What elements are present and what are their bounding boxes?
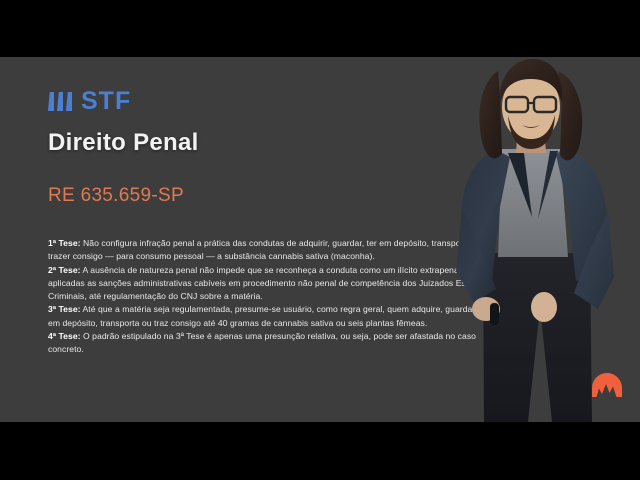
thesis-text-4: O padrão estipulado na 3ª Tese é apenas … [48,331,476,354]
thesis-label-4: 4ª Tese: [48,331,81,341]
thesis-label-2: 2ª Tese: [48,265,81,275]
thesis-item-3: 3ª Tese: Até que a matéria seja regulame… [48,303,494,330]
thesis-item-4: 4ª Tese: O padrão estipulado na 3ª Tese … [48,330,494,357]
presentation-slide: STF Direito Penal RE 635.659-SP 1ª Tese:… [0,57,640,422]
mountain-dome-icon [592,373,622,397]
theses-list: 1ª Tese: Não configura infração penal a … [48,237,494,357]
thesis-item-2: 2ª Tese: A ausência de natureza penal nã… [48,264,494,304]
stf-logo-text: STF [81,89,131,114]
stf-bars-icon [48,92,72,111]
thesis-text-1: Não configura infração penal a prática d… [48,238,486,261]
letterbox-top [0,0,640,57]
thesis-text-3: Até que a matéria seja regulamentada, pr… [48,304,492,327]
case-number-label: RE 635.659-SP [48,185,184,207]
thesis-label-3: 3ª Tese: [48,304,81,314]
thesis-item-1: 1ª Tese: Não configura infração penal a … [48,237,494,264]
stf-brand-logo: STF [48,89,131,114]
thesis-label-1: 1ª Tese: [48,238,81,248]
thesis-text-2: A ausência de natureza penal não impede … [48,265,493,302]
letterbox-bottom [0,422,640,480]
slide-title: Direito Penal [48,129,199,157]
video-frame: STF Direito Penal RE 635.659-SP 1ª Tese:… [0,0,640,480]
